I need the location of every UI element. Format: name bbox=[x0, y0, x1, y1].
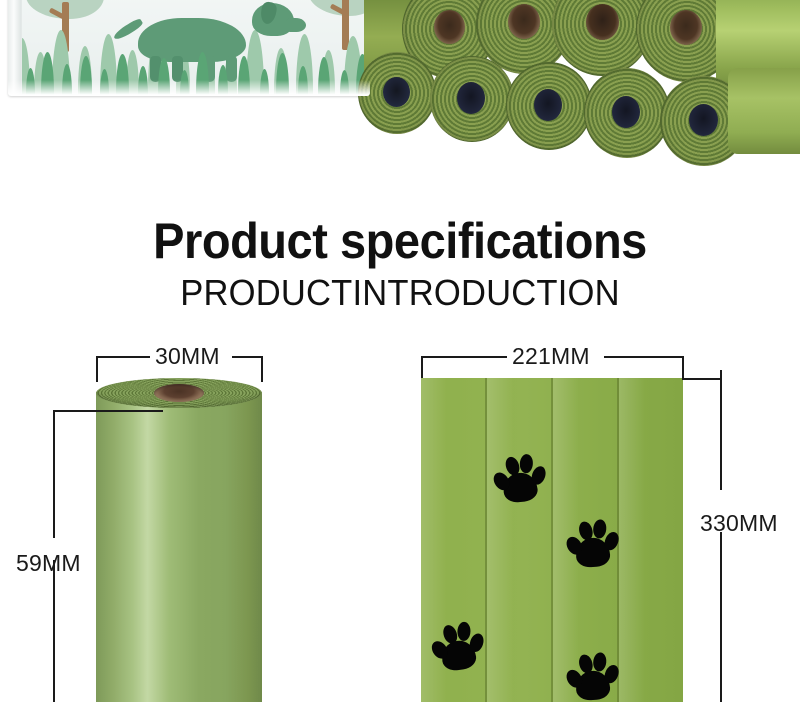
page-title: Product specifications bbox=[24, 212, 776, 270]
bag-fold-line-1 bbox=[485, 378, 487, 702]
bag-width-dim-right-segment bbox=[604, 356, 683, 358]
specifications-diagrams: 30MM 59MM bbox=[0, 330, 800, 702]
roll-cardboard-core bbox=[154, 384, 204, 402]
bag-height-dim-leader bbox=[682, 378, 721, 380]
paw-print-icon bbox=[564, 511, 620, 568]
roll-front-2 bbox=[430, 56, 514, 142]
bag-fold-line-2 bbox=[551, 378, 553, 702]
paw-print-icon bbox=[490, 445, 547, 504]
bag-height-dim-upper-segment bbox=[720, 370, 722, 490]
paw-print-icon bbox=[427, 613, 486, 674]
roll-front-3 bbox=[506, 62, 592, 150]
roll-width-dim-right-tick bbox=[261, 356, 263, 382]
paw-print-icon bbox=[564, 644, 620, 701]
roll-width-label: 30MM bbox=[155, 342, 220, 370]
bag-rolls-photo bbox=[372, 0, 800, 200]
product-box-image: 390 BAGS bbox=[8, 0, 370, 96]
bag-illustration bbox=[421, 378, 683, 702]
roll-illustration bbox=[96, 378, 262, 702]
roll-width-dim-left-segment bbox=[96, 356, 150, 358]
roll-front-6-body bbox=[728, 68, 800, 154]
roll-width-dim-left-tick bbox=[96, 356, 98, 382]
bag-width-dim-right-tick bbox=[682, 356, 684, 378]
page-subtitle: PRODUCTINTRODUCTION bbox=[16, 271, 784, 315]
roll-height-label: 59MM bbox=[16, 549, 81, 577]
bag-width-label: 221MM bbox=[512, 342, 590, 370]
hero-photo-band: 390 BAGS bbox=[0, 0, 800, 210]
bag-width-dim-left-segment bbox=[421, 356, 507, 358]
roll-body bbox=[96, 392, 262, 702]
box-bottom-fade bbox=[8, 80, 370, 96]
bag-height-label: 330MM bbox=[700, 509, 778, 537]
roll-height-dim-leader bbox=[53, 410, 163, 412]
roll-front-4 bbox=[584, 68, 670, 158]
roll-height-dim-lower-segment bbox=[53, 560, 55, 702]
roll-height-dim-upper-segment bbox=[53, 410, 55, 538]
bag-width-dim-left-tick bbox=[421, 356, 423, 378]
product-spec-page: 390 BAGS bbox=[0, 0, 800, 702]
bag-height-dim-lower-segment bbox=[720, 532, 722, 702]
roll-width-dim-right-segment bbox=[232, 356, 262, 358]
bag-sheet bbox=[421, 378, 683, 702]
